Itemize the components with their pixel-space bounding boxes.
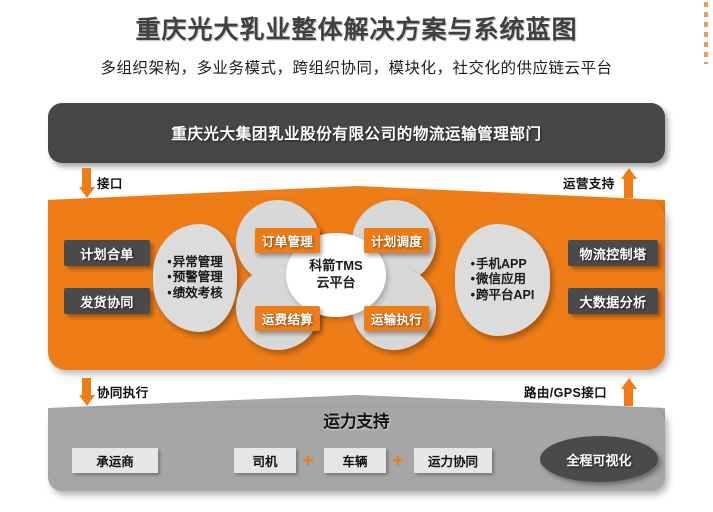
capacity-chip-carrier-label: 承运商: [96, 451, 134, 470]
tms-center-line2: 云平台: [316, 275, 355, 292]
core-left-petal[interactable]: 异常管理 预警管理 绩效考核: [153, 224, 237, 332]
core-right-petal-item-2: 跨平台API: [471, 288, 535, 303]
arrow-head: [621, 378, 637, 389]
capacity-chip-collab[interactable]: 运力协同: [414, 448, 492, 473]
flower-label-order-management[interactable]: 订单管理: [255, 228, 320, 253]
capacity-chip-vehicle-label: 车辆: [342, 451, 367, 470]
flower-label-freight-settlement[interactable]: 运费结算: [255, 306, 320, 331]
core-left-petal-item-0: 异常管理: [167, 255, 222, 270]
arrow-shaft: [82, 168, 91, 187]
capacity-separator-0: +: [302, 451, 314, 471]
full-visibility-label: 全程可视化: [566, 450, 631, 469]
core-right-box-0-label: 物流控制塔: [579, 244, 646, 263]
core-left-petal-item-2: 绩效考核: [167, 286, 222, 301]
core-right-petal-item-1: 微信应用: [471, 272, 535, 287]
org-header-box[interactable]: 重庆光大集团乳业股份有限公司的物流运输管理部门: [48, 103, 665, 163]
arrow-shaft: [82, 378, 91, 395]
blueprint-diagram: 重庆光大乳业整体解决方案与系统蓝图 多组织架构，多业务模式，跨组织协同，模块化，…: [0, 0, 713, 512]
tms-center-line1: 科箭TMS: [309, 258, 362, 275]
core-right-petal-item-0: 手机APP: [471, 257, 535, 272]
capacity-separator-1: +: [392, 451, 404, 471]
flower-label-transport-execution[interactable]: 运输执行: [364, 306, 429, 331]
page-title: 重庆光大乳业整体解决方案与系统蓝图: [0, 10, 713, 46]
capacity-chip-collab-label: 运力协同: [428, 451, 478, 470]
arrow-head: [621, 168, 637, 179]
core-left-box-1[interactable]: 发货协同: [64, 288, 150, 314]
capacity-chip-carrier[interactable]: 承运商: [72, 448, 158, 473]
flower-label-plan-dispatch[interactable]: 计划调度: [364, 228, 429, 253]
page-subtitle: 多组织架构，多业务模式，跨组织协同，模块化，社交化的供应链云平台: [0, 56, 713, 78]
core-left-petal-list: 异常管理 预警管理 绩效考核: [167, 255, 222, 301]
core-right-box-1[interactable]: 大数据分析: [568, 288, 658, 314]
core-left-petal-item-1: 预警管理: [167, 270, 222, 285]
capacity-chip-driver-label: 司机: [252, 451, 277, 470]
full-visibility-badge[interactable]: 全程可视化: [540, 436, 658, 482]
capacity-chip-driver[interactable]: 司机: [234, 448, 296, 473]
org-header-label: 重庆光大集团乳业股份有限公司的物流运输管理部门: [171, 122, 541, 144]
capacity-support-title: 运力支持: [48, 408, 665, 432]
core-right-box-0[interactable]: 物流控制塔: [568, 240, 658, 266]
core-left-box-0[interactable]: 计划合单: [64, 240, 150, 266]
core-right-petal-list: 手机APP 微信应用 跨平台API: [471, 257, 535, 303]
core-right-box-1-label: 大数据分析: [579, 292, 646, 311]
core-left-box-0-label: 计划合单: [80, 244, 134, 263]
core-right-petal[interactable]: 手机APP 微信应用 跨平台API: [455, 224, 550, 336]
capacity-chip-vehicle[interactable]: 车辆: [324, 448, 386, 473]
core-left-box-1-label: 发货协同: [80, 292, 134, 311]
tms-flower: 科箭TMS 云平台 订单管理 计划调度 运费结算 运输执行: [236, 200, 436, 350]
